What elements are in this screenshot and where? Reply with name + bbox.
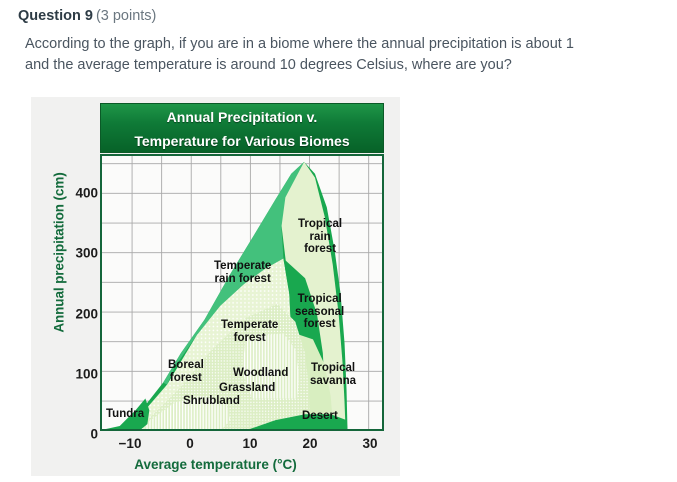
y-tick-0: 0	[90, 427, 98, 442]
x-axis-ticks: −10 0 10 20 30	[100, 436, 384, 456]
biome-chart-figure: Annual Precipitation v. Temperature for …	[31, 97, 400, 476]
x-axis-title: Average temperature (°C)	[31, 457, 400, 472]
y-tick-200: 200	[75, 306, 98, 321]
x-tick-10: 10	[242, 436, 257, 451]
question-body-line-2: and the average temperature is around 10…	[25, 55, 677, 76]
y-tick-400: 400	[75, 186, 98, 201]
chart-title: Annual Precipitation v. Temperature for …	[100, 103, 384, 153]
y-tick-100: 100	[75, 366, 98, 381]
x-tick-30: 30	[362, 436, 377, 451]
question-page: Question 9(3 points) According to the gr…	[0, 0, 677, 482]
y-axis-ticks: 0 100 200 300 400	[53, 157, 98, 430]
x-tick-minus10: −10	[119, 436, 142, 451]
question-title: Question 9	[18, 8, 93, 24]
biome-diagram-svg	[102, 156, 382, 429]
x-tick-20: 20	[302, 436, 317, 451]
x-tick-0: 0	[186, 436, 194, 451]
question-body: According to the graph, if you are in a …	[25, 34, 677, 76]
y-tick-300: 300	[75, 246, 98, 261]
question-points: (3 points)	[96, 8, 156, 24]
chart-title-line-2: Temperature for Various Biomes	[101, 129, 383, 153]
chart-title-line-1: Annual Precipitation v.	[101, 105, 383, 129]
question-body-line-1: According to the graph, if you are in a …	[25, 34, 677, 55]
chart-plot-area: Tropical rain forest Temperate rain fore…	[100, 154, 384, 431]
question-header: Question 9(3 points)	[18, 8, 156, 24]
region-woodland-patch	[242, 333, 299, 398]
